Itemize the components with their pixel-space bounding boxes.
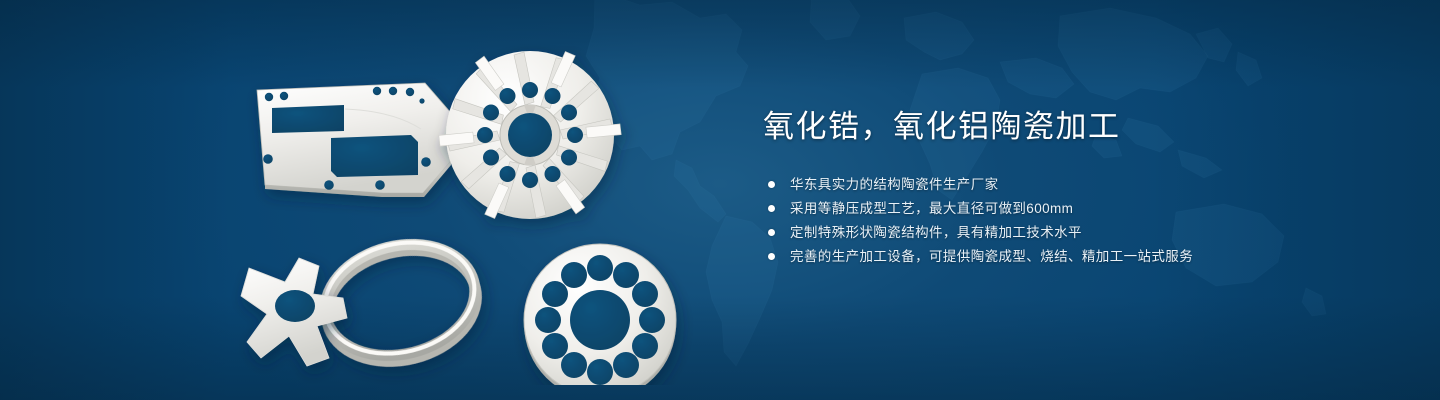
list-item-label: 华东具实力的结构陶瓷件生产厂家 [790,173,999,197]
bullet-dot-icon [768,229,775,236]
bullet-dot-icon [768,205,775,212]
list-item: 华东具实力的结构陶瓷件生产厂家 [763,173,1323,197]
ceramic-plate-with-cutouts [257,83,451,197]
list-item-label: 完善的生产加工设备，可提供陶瓷成型、烧结、精加工一站式服务 [790,245,1193,269]
list-item: 完善的生产加工设备，可提供陶瓷成型、烧结、精加工一站式服务 [763,245,1323,269]
ceramic-impeller-disc [436,49,624,222]
list-item: 采用等静压成型工艺，最大直径可做到600mm [763,197,1323,221]
list-item: 定制特殊形状陶瓷结构件，具有精加工技术水平 [763,221,1323,245]
ceramic-cross-shaped-part [241,258,347,366]
page-title: 氧化锆，氧化铝陶瓷加工 [763,108,1323,147]
list-item-label: 采用等静压成型工艺，最大直径可做到600mm [790,197,1073,221]
list-item-label: 定制特殊形状陶瓷结构件，具有精加工技术水平 [790,221,1082,245]
bullet-dot-icon [768,253,775,260]
feature-list: 华东具实力的结构陶瓷件生产厂家 采用等静压成型工艺，最大直径可做到600mm 定… [763,173,1323,269]
ceramic-products-image [225,35,725,385]
banner-text-column: 氧化锆，氧化铝陶瓷加工 华东具实力的结构陶瓷件生产厂家 采用等静压成型工艺，最大… [763,108,1323,269]
bullet-dot-icon [768,181,775,188]
ceramic-perforated-disc [524,244,676,385]
promo-banner: 氧化锆，氧化铝陶瓷加工 华东具实力的结构陶瓷件生产厂家 采用等静压成型工艺，最大… [0,0,1440,400]
